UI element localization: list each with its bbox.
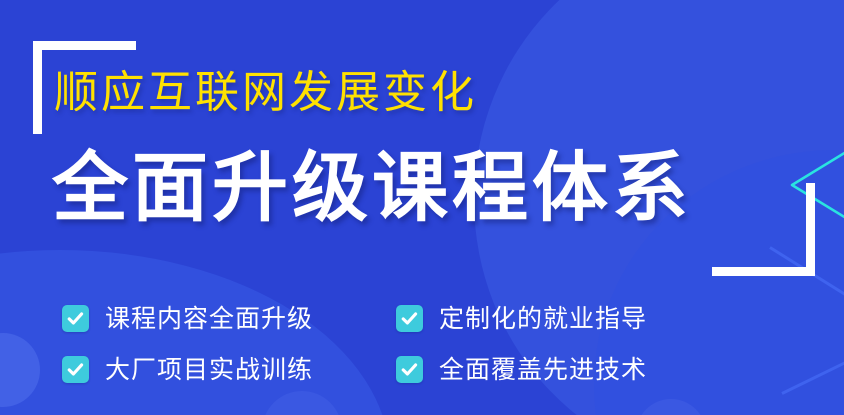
check-icon	[396, 356, 423, 383]
background-circle-left	[0, 333, 40, 407]
banner-subtitle: 顺应互联网发展变化	[54, 66, 477, 120]
feature-label: 定制化的就业指导	[439, 304, 647, 334]
feature-item: 定制化的就业指导	[396, 293, 702, 344]
feature-item: 大厂项目实战训练	[62, 344, 396, 395]
banner-title: 全面升级课程体系	[52, 144, 692, 234]
check-icon	[62, 305, 89, 332]
feature-label: 全面覆盖先进技术	[439, 355, 647, 385]
feature-list: 课程内容全面升级 定制化的就业指导 大厂项目实战训练	[62, 293, 702, 395]
promo-banner: 顺应互联网发展变化 全面升级课程体系 课程内容全面升级 定制化的就业指导	[0, 0, 844, 415]
bracket-bottom-right	[712, 183, 815, 276]
background-diagonal-line-lower	[781, 344, 844, 395]
background-circle-bottom-right	[636, 399, 706, 415]
check-icon	[62, 356, 89, 383]
feature-item: 课程内容全面升级	[62, 293, 396, 344]
feature-label: 课程内容全面升级	[105, 304, 313, 334]
feature-item: 全面覆盖先进技术	[396, 344, 702, 395]
check-icon	[396, 305, 423, 332]
feature-label: 大厂项目实战训练	[105, 355, 313, 385]
